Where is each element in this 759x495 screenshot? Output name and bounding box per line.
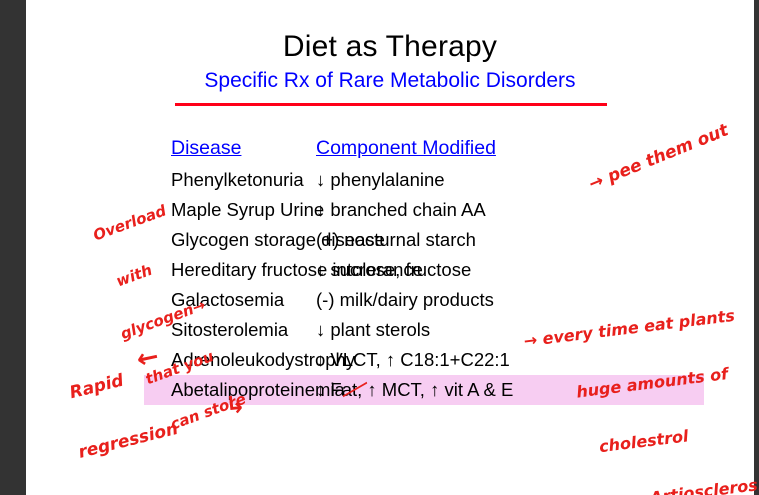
ink-line: cholestrol: [598, 417, 759, 456]
cell-component: ↓ plant sterols: [316, 315, 430, 345]
cell-component: ↓ phenylalanine: [316, 165, 445, 195]
page-subtitle: Specific Rx of Rare Metabolic Disorders: [26, 69, 754, 93]
cell-disease: Sitosterolemia: [144, 315, 316, 345]
cell-disease: Glycogen storage disease: [144, 225, 316, 255]
ink-line: +: [122, 477, 195, 495]
cell-component: ↓ sucrose, fructose: [316, 255, 471, 285]
cell-disease: Hereditary fructose intolerance: [144, 255, 316, 285]
table-row: Glycogen storage disease(+) nocturnal st…: [144, 225, 704, 255]
page-title: Diet as Therapy: [26, 30, 754, 64]
cell-disease: Adrenoleukodystrophy: [144, 345, 316, 375]
column-header-component: Component Modified: [316, 131, 496, 165]
table-row: Adrenoleukodystrophy↓ VLCT, ↑ C18:1+C22:…: [144, 345, 704, 375]
column-header-disease: Disease: [144, 131, 316, 165]
cell-component: (+) nocturnal starch: [316, 225, 476, 255]
cell-component: ↓ VLCT, ↑ C18:1+C22:1: [316, 345, 510, 375]
window-edge-left: [0, 0, 26, 495]
title-divider-rule: [175, 103, 607, 106]
table-header-row: DiseaseComponent Modified: [144, 131, 704, 165]
table-row: Galactosemia(-) milk/dairy products: [144, 285, 704, 315]
cell-disease: Galactosemia: [144, 285, 316, 315]
table-row: Maple Syrup Urine↓ branched chain AA: [144, 195, 704, 225]
cell-component: (-) milk/dairy products: [316, 285, 494, 315]
table-row: Phenylketonuria↓ phenylalanine: [144, 165, 704, 195]
table-row: Hereditary fructose intolerance↓ sucrose…: [144, 255, 704, 285]
window-edge-right: [754, 0, 759, 495]
disease-table: DiseaseComponent Modified Phenylketonuri…: [144, 131, 704, 405]
ink-line: => Artiosclerosis: [617, 473, 759, 495]
table-row: Sitosterolemia↓ plant sterols: [144, 315, 704, 345]
slide-canvas: Diet as Therapy Specific Rx of Rare Meta…: [26, 0, 754, 495]
cell-component: ↓ Fat, ↑ MCT, ↑ vit A & E: [316, 375, 513, 405]
cell-disease: Phenylketonuria: [144, 165, 316, 195]
ink-line: regression: [76, 419, 180, 463]
slide-root: Diet as Therapy Specific Rx of Rare Meta…: [0, 0, 759, 495]
cell-disease: Maple Syrup Urine: [144, 195, 316, 225]
table-row-highlighted: Abetalipoproteinemia↓ Fat, ↑ MCT, ↑ vit …: [144, 375, 704, 405]
cell-component: ↓ branched chain AA: [316, 195, 486, 225]
cell-disease: Abetalipoproteinemia: [144, 375, 316, 405]
